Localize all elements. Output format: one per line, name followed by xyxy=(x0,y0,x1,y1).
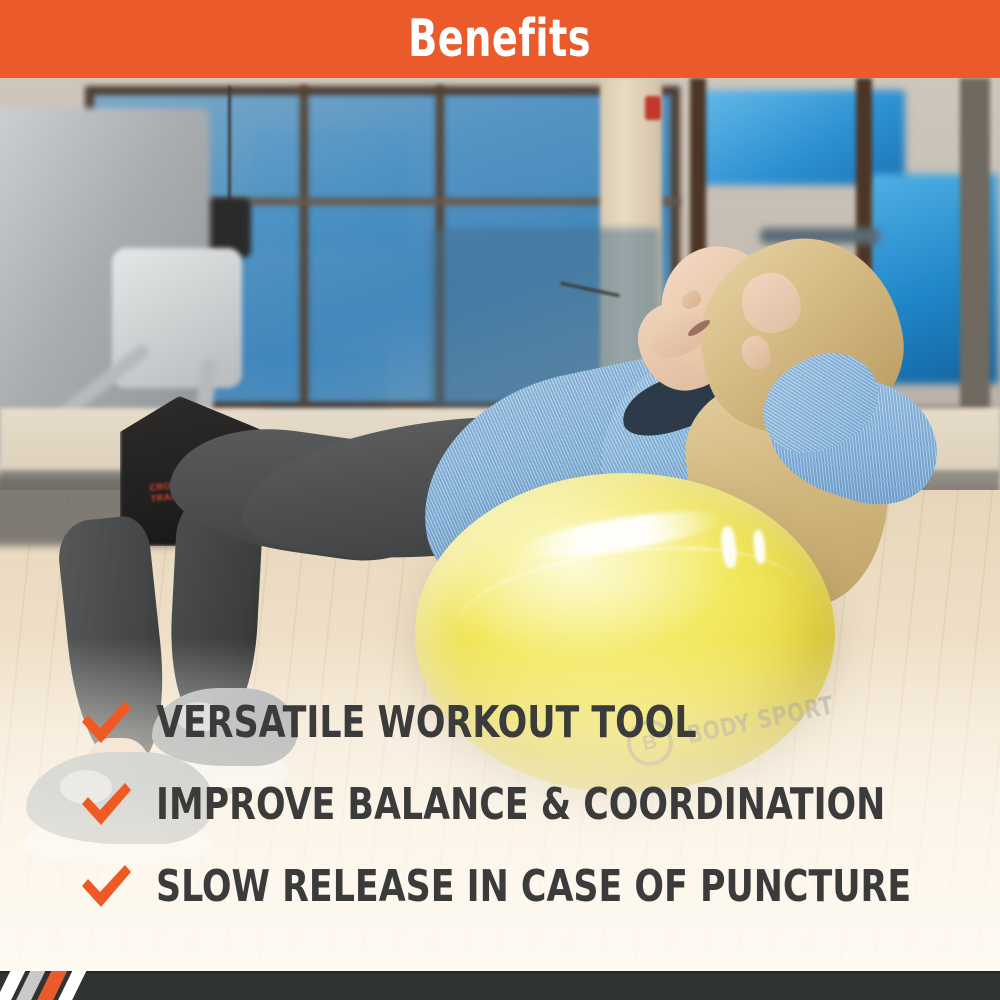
benefit-label: IMPROVE BALANCE & COORDINATION xyxy=(156,783,885,827)
page-title: Benefits xyxy=(409,13,592,65)
benefit-item-2: IMPROVE BALANCE & COORDINATION xyxy=(78,780,985,830)
footer-divider xyxy=(0,971,1000,973)
benefit-label: SLOW RELEASE IN CASE OF PUNCTURE xyxy=(156,865,911,909)
benefits-promo-card: Benefits xyxy=(0,0,1000,1000)
footer-bar xyxy=(0,971,1000,1000)
check-icon xyxy=(78,780,134,830)
header-banner: Benefits xyxy=(0,0,1000,78)
check-icon xyxy=(78,862,134,912)
benefit-label: VERSATILE WORKOUT TOOL xyxy=(156,701,697,745)
gym-photo: CROSSOVER TRAIL xyxy=(0,78,1000,971)
check-icon xyxy=(78,698,134,748)
benefit-item-3: SLOW RELEASE IN CASE OF PUNCTURE xyxy=(78,862,1000,912)
benefit-item-1: VERSATILE WORKOUT TOOL xyxy=(78,698,770,748)
